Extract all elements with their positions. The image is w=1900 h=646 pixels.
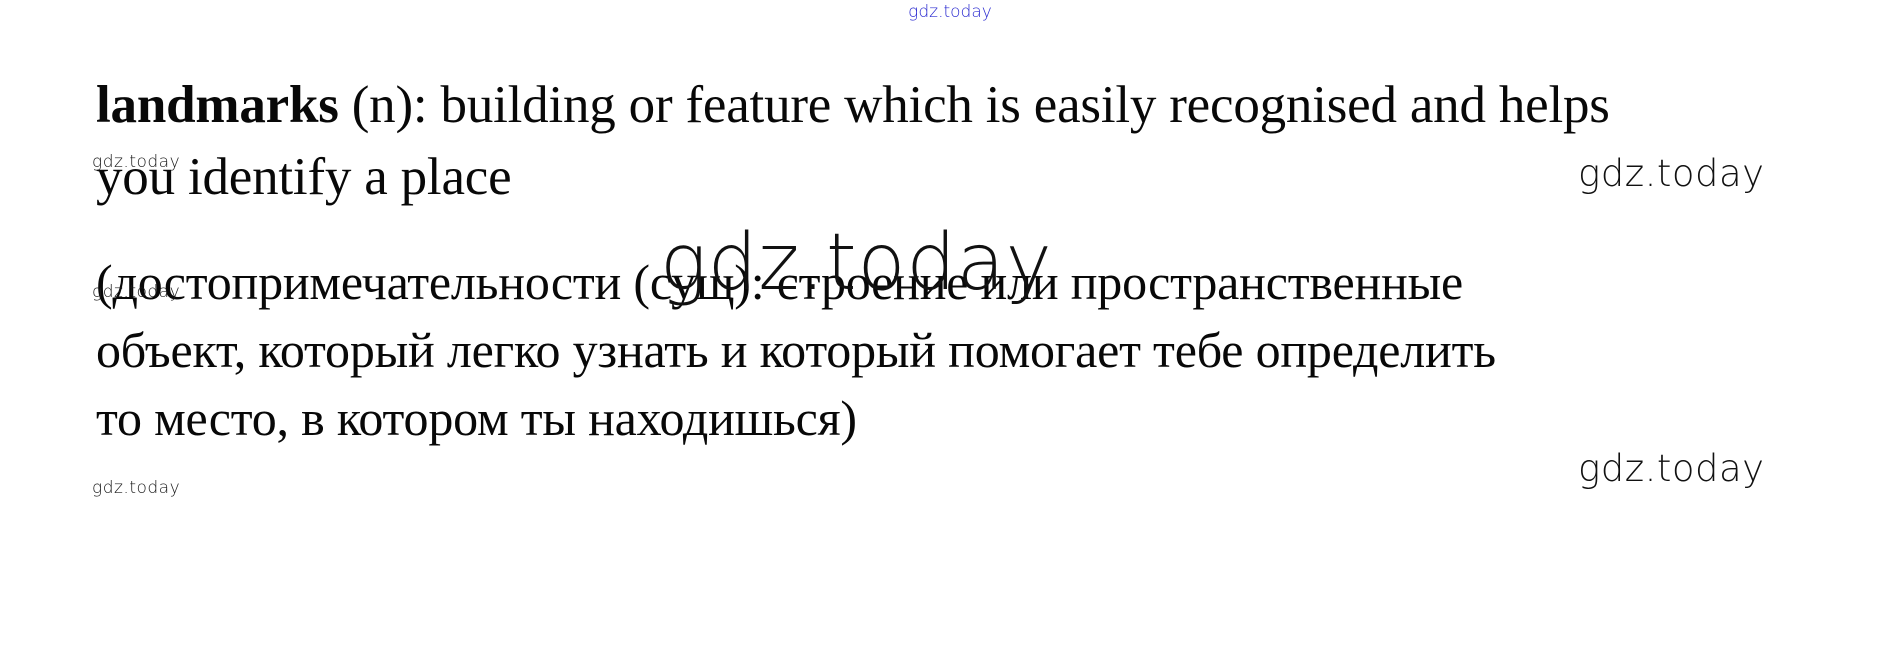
part-of-speech: (n): <box>352 76 428 134</box>
watermark-right-lower: gdz.today <box>1578 447 1765 490</box>
headword: landmarks <box>96 76 339 134</box>
definition-text-block: landmarks (n): building or feature which… <box>0 0 1900 646</box>
english-definition-line-1: landmarks (n): building or feature which… <box>96 78 1610 134</box>
watermark-right-upper: gdz.today <box>1578 152 1765 195</box>
russian-definition-line-3: то место, в котором ты находишься) <box>96 392 857 445</box>
english-definition-text-1: building or feature which is easily reco… <box>441 76 1610 134</box>
page-canvas: gdz.today landmarks (n): building or fea… <box>0 0 1900 646</box>
watermark-center-large: gdz.today <box>660 218 1053 308</box>
russian-definition-line-2: объект, который легко узнать и который п… <box>96 324 1496 377</box>
watermark-left-middle: gdz.today <box>92 282 180 302</box>
watermark-left-upper: gdz.today <box>92 152 180 172</box>
watermark-left-lower: gdz.today <box>92 478 180 498</box>
